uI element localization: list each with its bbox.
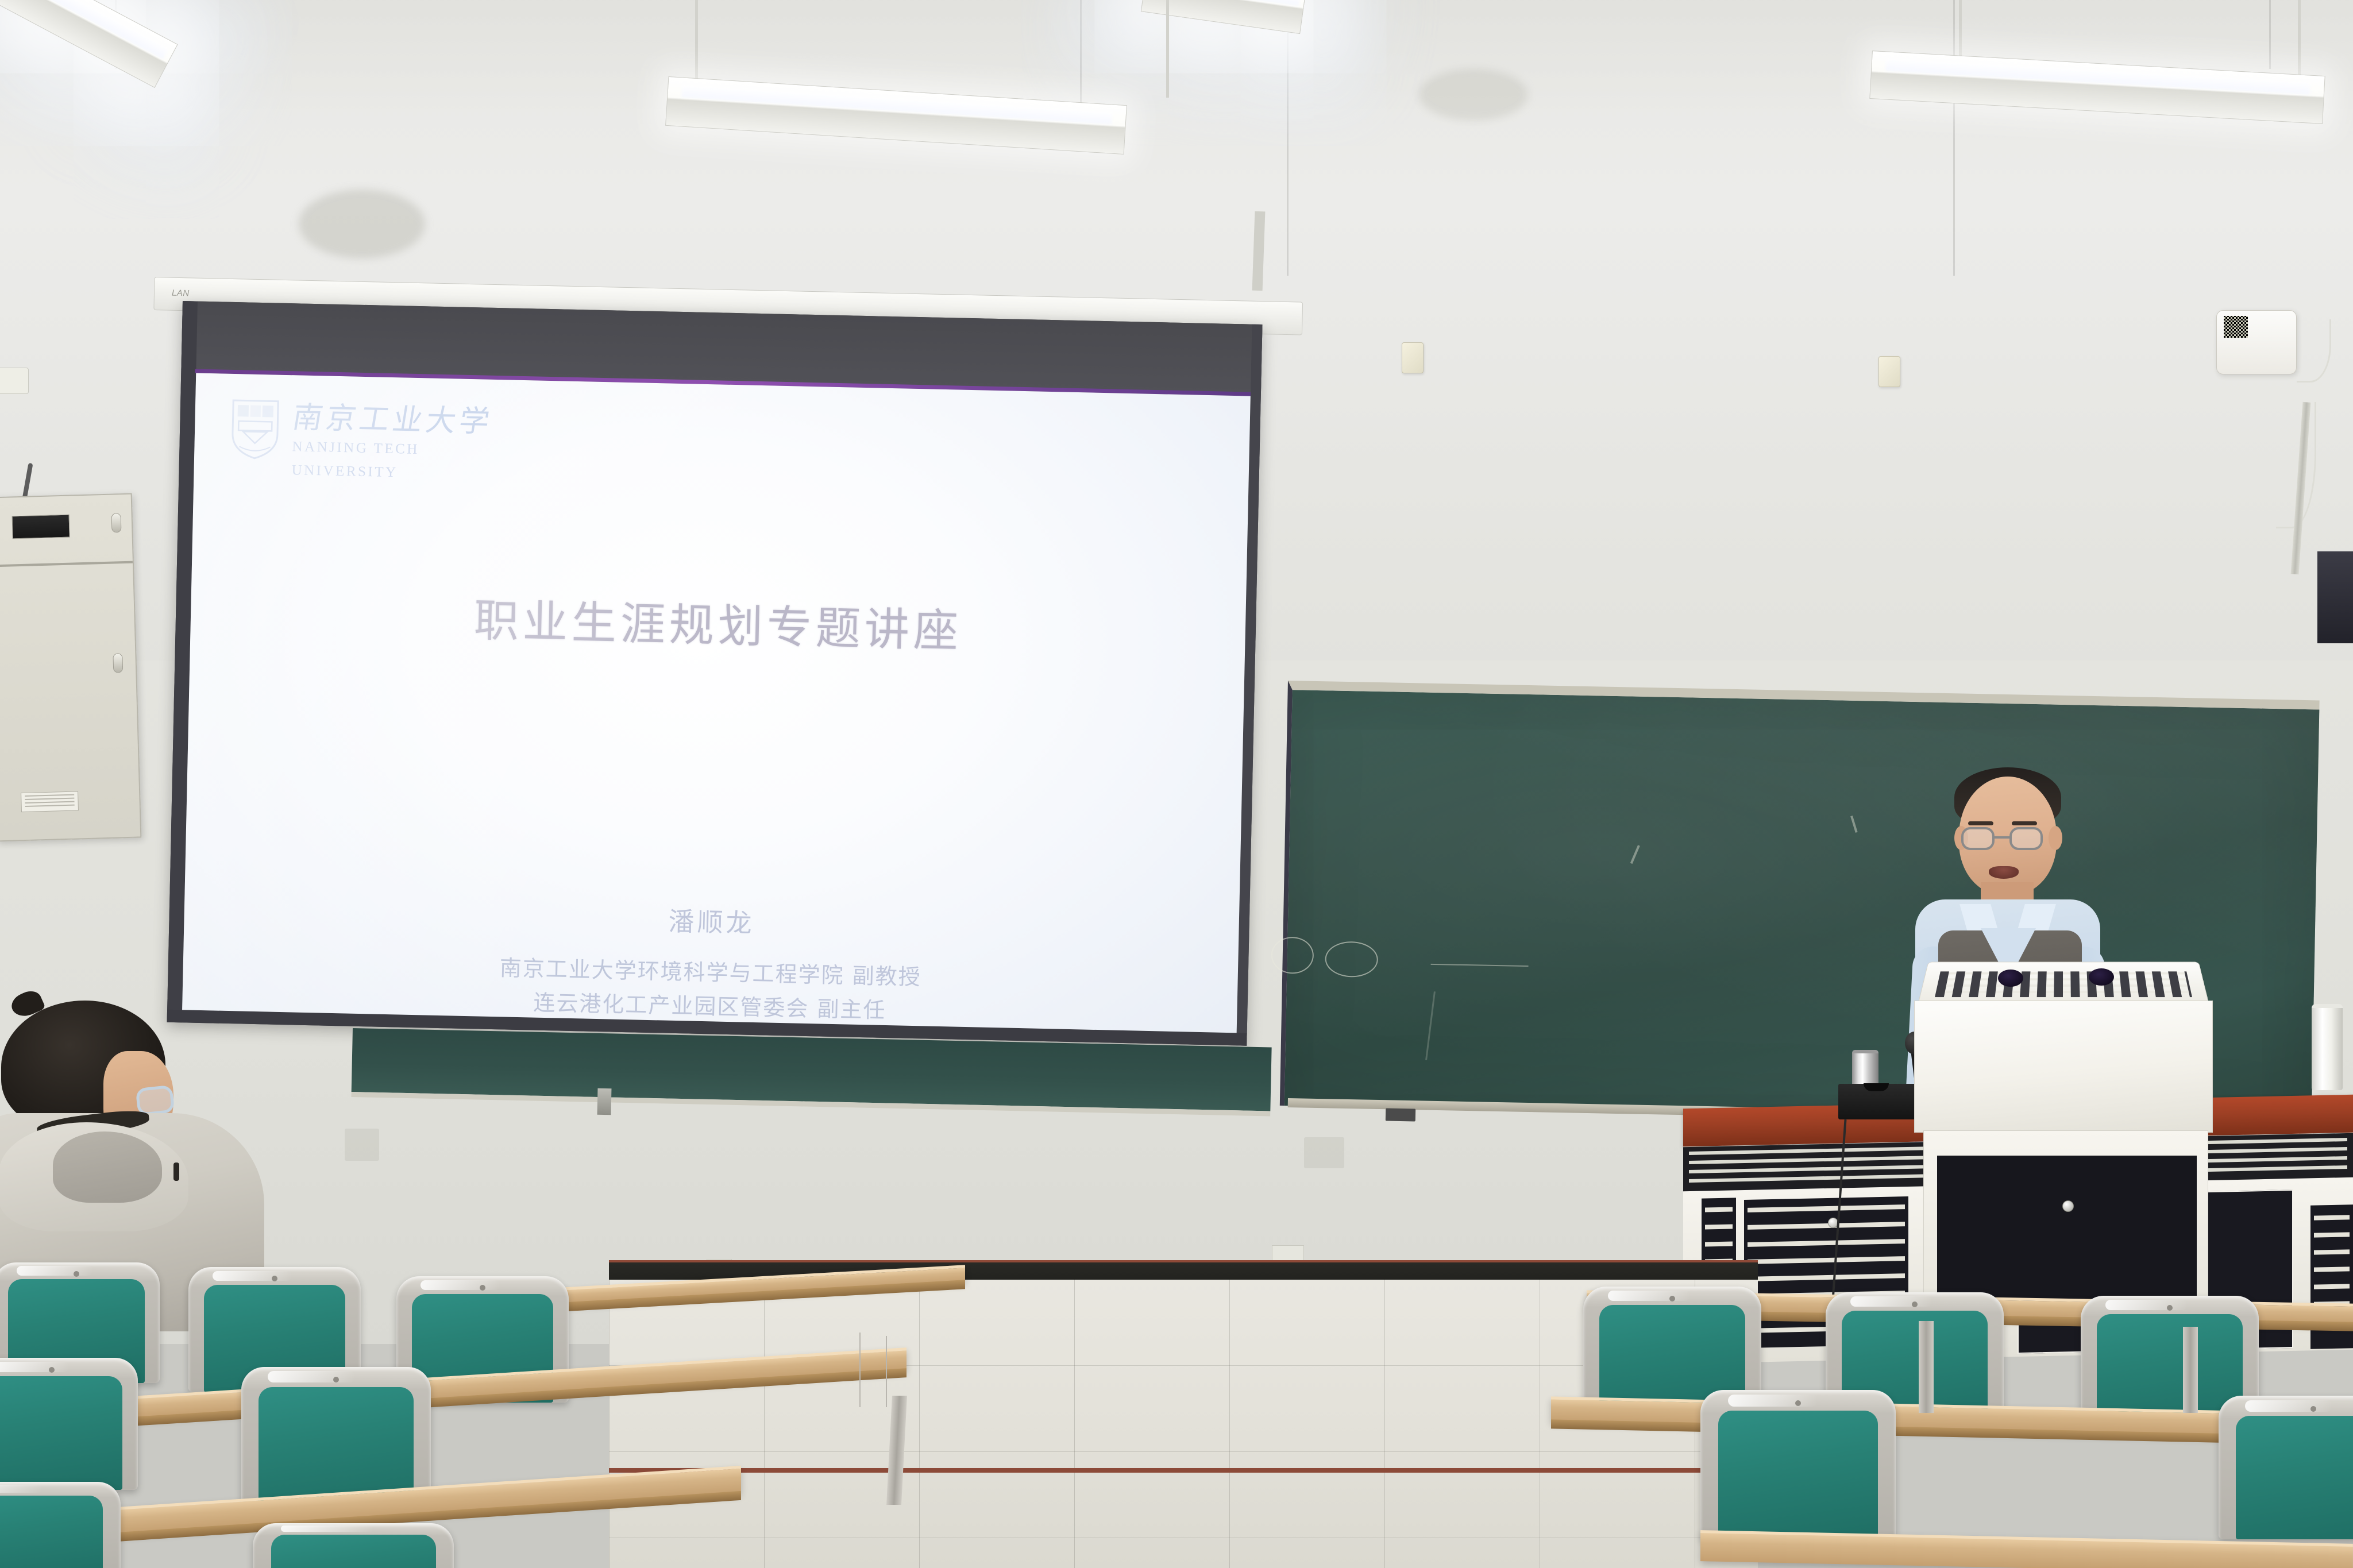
logo-english-line1: NANJING TECH — [292, 438, 492, 461]
desk-hook-wire — [886, 1336, 887, 1407]
wifi-access-point — [2216, 310, 2297, 374]
panel-door-divider — [0, 561, 133, 567]
lectern-lock[interactable] — [2062, 1200, 2074, 1212]
ceiling-seam — [2269, 0, 2271, 69]
ceiling-seam — [1287, 0, 1289, 276]
wall-mark — [1304, 1137, 1344, 1168]
chair-cushion — [0, 1496, 103, 1568]
chair-right-front-1[interactable] — [1700, 1390, 1896, 1539]
wall-stain — [299, 190, 425, 258]
slide-byline: 潘顺龙 南京工业大学环境科学与工程学院 副教授 连云港化工产业园区管委会 副主任… — [182, 890, 1239, 1033]
presentation-slide: 南京工业大学 NANJING TECH UNIVERSITY 职业生涯规划专题讲… — [182, 373, 1251, 1033]
chair-leg — [2183, 1327, 2198, 1413]
chalk-circle — [1325, 941, 1378, 978]
chair-rivet — [2310, 1406, 2316, 1412]
lectern-cable-grommet-left — [1998, 970, 2023, 987]
speaker-mouth — [1989, 866, 2019, 879]
speaker-glasses-bridge — [1992, 836, 2012, 839]
presenter-name: 潘顺龙 — [184, 890, 1239, 950]
slide-title: 职业生涯规划专题讲座 — [190, 578, 1246, 666]
chair-highlight — [281, 1525, 373, 1532]
chair-highlight — [1850, 1296, 1932, 1307]
chair-cushion — [1718, 1411, 1878, 1539]
chair-cushion — [0, 1376, 122, 1490]
qr-code-label — [2224, 316, 2248, 338]
chair-left-front-1[interactable] — [0, 1482, 121, 1568]
chair-leg — [1919, 1321, 1934, 1413]
lectern-body — [1914, 1001, 2213, 1133]
desk-hook-wire — [859, 1333, 861, 1407]
chair-rivet — [1912, 1301, 1918, 1307]
desk-equipment-box — [1838, 1084, 1924, 1119]
speaker-eyeglass-right — [2009, 827, 2043, 850]
light-tube — [1150, 0, 1301, 6]
wall-mark — [345, 1129, 379, 1161]
chair-rivet — [74, 1271, 79, 1277]
chair-highlight — [1728, 1395, 1818, 1407]
housing-label: LAN — [172, 288, 190, 299]
student-zipper-pull — [173, 1163, 179, 1181]
wall-outlet[interactable] — [0, 368, 29, 394]
chair-highlight — [17, 1266, 93, 1276]
shield-crest-icon — [230, 398, 280, 461]
chair-left-mid-1[interactable] — [0, 1358, 138, 1490]
floor-step-edge — [609, 1468, 1758, 1473]
student-hood-inner — [53, 1131, 162, 1203]
chair-highlight — [2105, 1300, 2188, 1310]
light-switch-plate[interactable] — [1878, 356, 1900, 387]
chair-highlight — [2245, 1400, 2332, 1412]
speaker-eyeglass-left — [1961, 827, 1995, 850]
chalk-stroke — [1630, 845, 1640, 864]
chalk-stroke — [1850, 816, 1858, 833]
eraser — [1386, 1109, 1415, 1122]
lectern-top-panel — [1918, 962, 2209, 1005]
logo-wordmark: 南京工业大学 NANJING TECH UNIVERSITY — [291, 399, 493, 484]
chair-highlight — [0, 1362, 69, 1372]
projector-screen: 南京工业大学 NANJING TECH UNIVERSITY 职业生涯规划专题讲… — [167, 301, 1263, 1046]
ceiling-seam — [1953, 0, 1955, 276]
chair-right-front-2[interactable] — [2219, 1396, 2353, 1539]
chair-highlight — [0, 1485, 43, 1493]
light-hanger-rod — [1166, 0, 1169, 98]
panel-viewing-window — [12, 515, 70, 539]
chalk-tray-hook — [597, 1088, 612, 1115]
university-logo: 南京工业大学 NANJING TECH UNIVERSITY — [229, 398, 493, 484]
logo-chinese-name: 南京工业大学 — [290, 403, 495, 437]
chair-highlight — [1608, 1291, 1690, 1301]
wall-stain — [1419, 69, 1528, 121]
wall-speaker-box — [2317, 551, 2353, 643]
speaker-ear-right — [2049, 826, 2062, 850]
chair-highlight — [421, 1280, 500, 1291]
chalk-circle — [1271, 937, 1314, 974]
speaker-eyebrow-left — [1968, 821, 1993, 825]
chair-highlight — [213, 1271, 292, 1281]
electrical-panel-cabinet[interactable] — [0, 493, 141, 842]
chair-cushion — [271, 1535, 436, 1568]
panel-latch-lower[interactable] — [113, 653, 123, 673]
lectern-cable-grommet-right — [2089, 968, 2114, 986]
classroom-scene: LAN 南京工业大学 NANJING TECH — [0, 0, 2353, 1568]
lectern-vent-grille — [1935, 971, 2192, 997]
logo-english-line2: UNIVERSITY — [291, 461, 492, 484]
chair-left-front-2[interactable] — [253, 1523, 454, 1568]
panel-info-label — [21, 791, 79, 812]
chair-cushion — [2236, 1416, 2353, 1539]
chalk-stroke — [1425, 991, 1436, 1060]
speaker-eyebrow-right — [2012, 821, 2037, 825]
panel-latch-upper[interactable] — [111, 513, 122, 532]
chair-rivet — [1669, 1296, 1675, 1301]
light-switch-plate[interactable] — [1402, 342, 1424, 373]
chair-highlight — [268, 1371, 355, 1382]
chalk-stroke — [1431, 964, 1529, 967]
white-thermos-bottle — [2312, 1004, 2343, 1090]
